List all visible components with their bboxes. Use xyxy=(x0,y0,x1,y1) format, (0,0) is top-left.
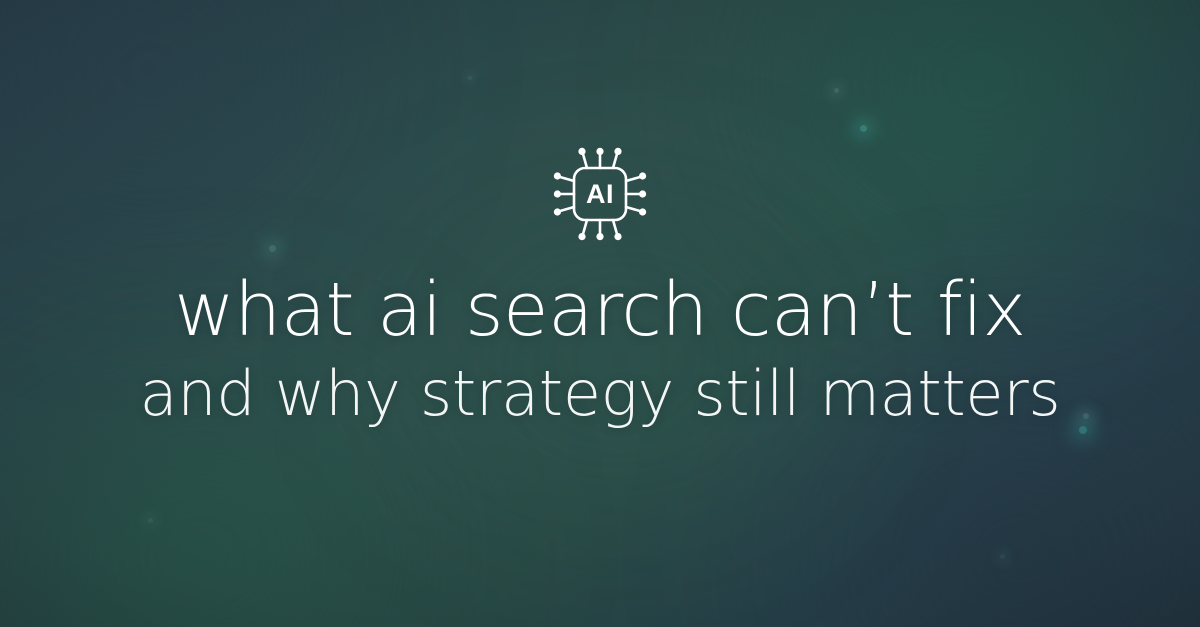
chip-pin-bottom-1 xyxy=(583,220,587,234)
page-subtitle: and why strategy still matters xyxy=(0,361,1200,427)
chip-pin-dot-top-1 xyxy=(578,148,585,155)
chip-pin-dot-bottom-1 xyxy=(578,233,585,240)
chip-pin-dot-top-2 xyxy=(596,148,603,155)
ai-chip-icon: AI xyxy=(544,138,656,250)
chip-pin-right-1 xyxy=(626,177,640,181)
chip-pin-left-3 xyxy=(560,207,574,211)
chip-pin-dot-top-3 xyxy=(614,148,621,155)
card-content: AI what ai search can’t fix and why stra… xyxy=(0,0,1200,627)
chip-pin-dot-right-1 xyxy=(639,172,646,179)
chip-label: AI xyxy=(586,179,614,209)
chip-pin-dot-right-2 xyxy=(639,190,646,197)
chip-pin-dot-bottom-2 xyxy=(596,233,603,240)
chip-pin-dot-right-3 xyxy=(639,208,646,215)
chip-pin-top-3 xyxy=(613,154,617,168)
chip-pin-right-3 xyxy=(626,207,640,211)
chip-pin-left-1 xyxy=(560,177,574,181)
chip-pin-dot-left-2 xyxy=(554,190,561,197)
chip-pin-dot-bottom-3 xyxy=(614,233,621,240)
chip-pin-dot-left-1 xyxy=(554,172,561,179)
headline-block: what ai search can’t fix and why strateg… xyxy=(0,272,1200,427)
page-title: what ai search can’t fix xyxy=(0,272,1200,349)
chip-pin-dot-left-3 xyxy=(554,208,561,215)
chip-pin-bottom-3 xyxy=(613,220,617,234)
chip-pin-top-1 xyxy=(583,154,587,168)
social-card: AI what ai search can’t fix and why stra… xyxy=(0,0,1200,627)
